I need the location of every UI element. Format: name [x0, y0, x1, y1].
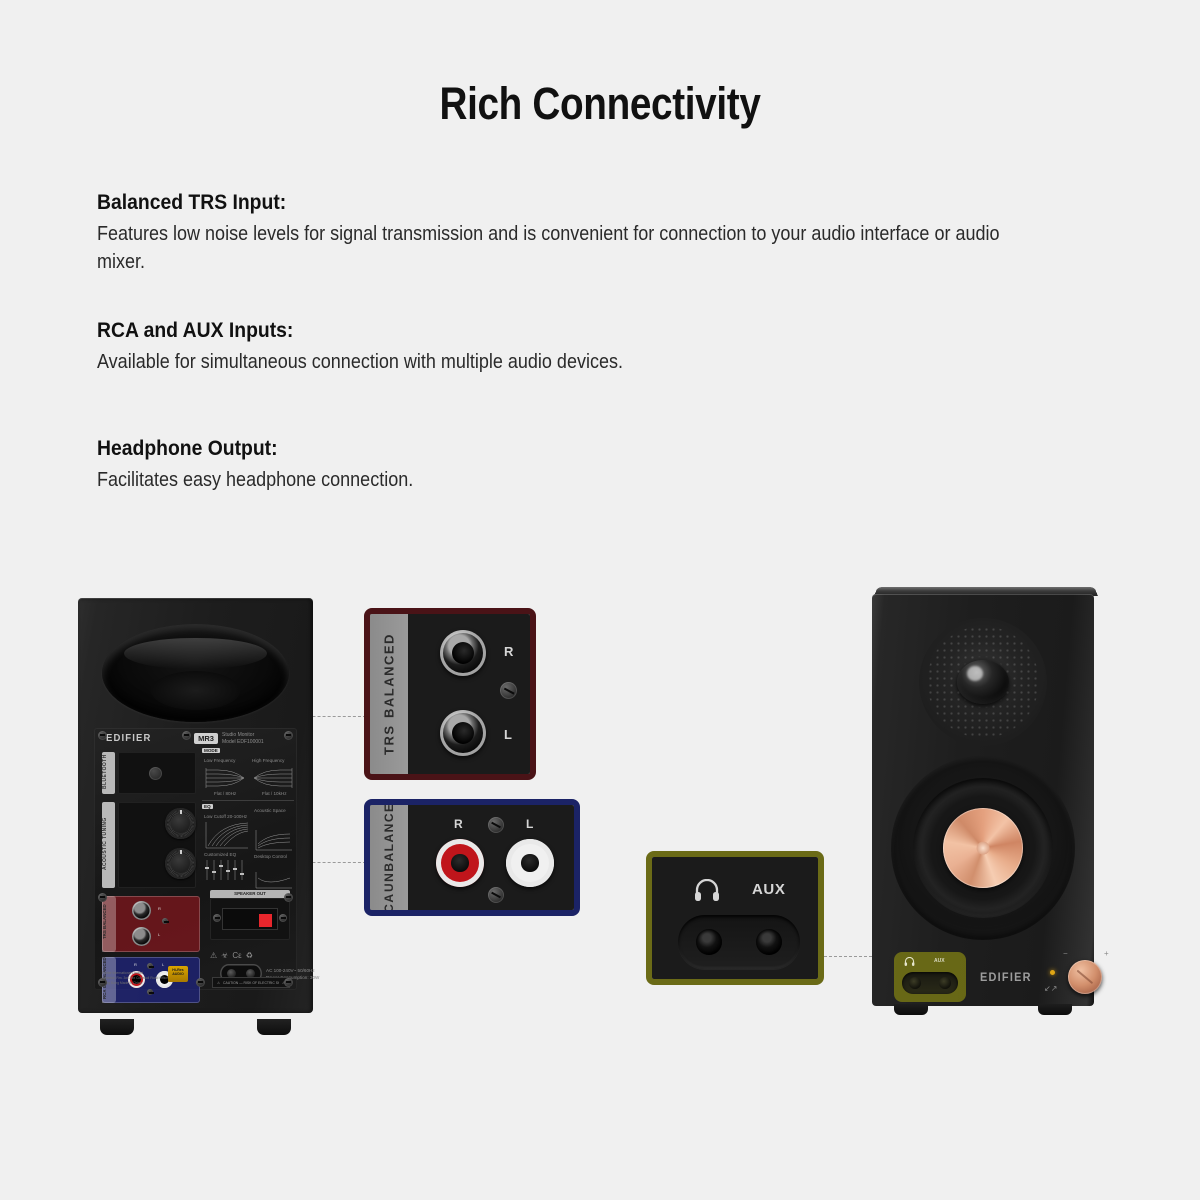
diagram-label-flat-80: Flat / 80Hz — [214, 791, 236, 796]
rca-strip-line-2: UNBALANCED — [382, 799, 396, 892]
rating-line-1: AC 100-240V~ 50/60Hz — [266, 968, 319, 975]
panel-screw-icon — [213, 914, 221, 922]
aux-input-jack[interactable] — [756, 929, 782, 955]
woofer-driver — [891, 756, 1075, 940]
speaker-out-label: SPEAKER OUT — [210, 890, 290, 898]
low-frequency-curve-icon — [204, 766, 246, 790]
aux-label: AUX — [934, 958, 945, 964]
rca-jack-left-label: L — [162, 962, 164, 967]
brand-logo: EDIFIER — [106, 733, 151, 744]
acoustic-tuning-module[interactable] — [118, 802, 196, 888]
trs-input-region-highlight[interactable]: TRS BALANCED R L — [102, 896, 200, 952]
diagram-label-low-cutoff: Low Cutoff 20-100Hz — [204, 814, 247, 819]
callout-aux-headphone: AUX — [646, 851, 824, 985]
speaker-foot — [257, 1019, 291, 1035]
aux-input-region-highlight[interactable]: AUX — [894, 952, 966, 1002]
plate-screw-icon — [182, 731, 191, 740]
panel-screw-icon — [488, 887, 504, 903]
bluetooth-pair-button[interactable] — [149, 767, 162, 780]
speaker-foot — [100, 1019, 134, 1035]
tuning-knob-low[interactable] — [165, 808, 196, 839]
bluetooth-icon: ↙↗ — [1044, 984, 1057, 993]
headphone-icon — [694, 879, 720, 901]
trs-jack-left-label: L — [158, 932, 160, 937]
feature-body: Features low noise levels for signal tra… — [97, 220, 1051, 277]
trs-jack-right[interactable] — [132, 901, 151, 920]
aux-jack-recess — [902, 972, 958, 994]
plate-screw-icon — [98, 731, 107, 740]
trs-jack-right[interactable] — [440, 630, 486, 676]
speaker-out-terminal[interactable]: SPEAKER OUT — [210, 898, 290, 940]
woofer-cone — [949, 814, 1017, 882]
woofer-surround — [913, 778, 1053, 918]
panel-screw-icon — [500, 682, 517, 699]
feature-heading: Balanced TRS Input: — [97, 190, 961, 215]
speaker-out-red-button[interactable] — [259, 914, 272, 927]
speaker-feet — [872, 1004, 1094, 1018]
model-badge: MR3 — [194, 733, 218, 744]
diagram-label-acoustic-space: Acoustic Space — [254, 808, 286, 813]
headphone-jack[interactable] — [909, 977, 921, 989]
feature-block-trs: Balanced TRS Input: Features low noise l… — [97, 190, 1057, 277]
callout-trs-balanced: TRS BALANCED R L — [364, 608, 536, 780]
panel-screw-icon — [162, 918, 168, 924]
diagram-label-low-freq: Low Frequency — [204, 758, 235, 763]
feature-heading: Headphone Output: — [97, 436, 961, 461]
trs-jack-right-label: R — [158, 906, 161, 911]
rca-callout-strip-label: RCA UNBALANCED — [370, 805, 408, 910]
trs-jack-left[interactable] — [132, 927, 151, 946]
warning-text: CAUTION — RISK OF ELECTRIC SHOCK. DO NOT… — [223, 981, 279, 985]
rca-jack-left[interactable] — [506, 839, 554, 887]
speaker-out-socket[interactable] — [222, 908, 278, 930]
volume-plus-label: + — [1104, 949, 1109, 958]
left-speaker-rear: EDIFIER MR3 Studio Monitor Model EDF1000… — [78, 598, 313, 1035]
tweeter-waveguide — [919, 618, 1047, 746]
status-led-indicator — [1050, 970, 1055, 975]
speaker-foot — [1038, 1004, 1072, 1015]
high-frequency-curve-icon — [252, 766, 294, 790]
diagram-label-desktop-control: Desktop Control — [254, 854, 287, 859]
model-text: Studio Monitor Model EDF100001 — [222, 732, 292, 746]
plate-screw-icon — [284, 978, 293, 987]
power-warning-icon: ⚠ — [210, 952, 217, 960]
diagram-tag-mode: MODE — [202, 748, 220, 753]
speaker-foot — [894, 1004, 928, 1015]
feature-body: Facilitates easy headphone connection. — [97, 466, 1051, 494]
tweeter-dome — [957, 660, 1009, 704]
trs-jack-right-label: R — [504, 644, 513, 659]
tuning-knob-high[interactable] — [165, 848, 196, 879]
bluetooth-strip-label: BLUETOOTH — [102, 752, 115, 794]
volume-knob[interactable] — [1068, 960, 1102, 994]
panel-screw-icon — [279, 914, 287, 922]
trs-jack-left-label: L — [504, 727, 512, 742]
plate-screw-icon — [98, 893, 107, 902]
rca-jack-left-label: L — [526, 817, 533, 831]
trs-strip-line-2: BALANCED — [382, 633, 397, 718]
recycle-icon: ♻ — [246, 952, 253, 960]
diagram-label-high-freq: High Frequency — [252, 758, 284, 763]
aux-jack-recess — [678, 915, 800, 969]
headphone-jack[interactable] — [696, 929, 722, 955]
aux-label: AUX — [752, 881, 785, 898]
model-line-1: Studio Monitor — [222, 732, 292, 739]
rca-jack-right-label: R — [454, 817, 463, 831]
volume-minus-label: − — [1063, 949, 1068, 958]
rca-strip-line-1: RCA — [382, 892, 396, 916]
feature-block-rca-aux: RCA and AUX Inputs: Available for simult… — [97, 318, 1057, 376]
warning-triangle-icon: ⚠ — [217, 981, 220, 985]
woofer-dust-cap — [943, 808, 1023, 888]
panel-screw-icon — [147, 989, 153, 995]
feature-heading: RCA and AUX Inputs: — [97, 318, 961, 343]
certification-icons: ⚠ ☣ Cε ♻ — [210, 950, 294, 962]
trs-jack-left[interactable] — [440, 710, 486, 756]
ce-icon: Cε — [232, 952, 241, 960]
page-title: Rich Connectivity — [84, 78, 1116, 130]
feature-body: Available for simultaneous connection wi… — [97, 348, 1051, 376]
aux-input-jack[interactable] — [939, 977, 951, 989]
headphone-icon — [904, 957, 915, 966]
model-line-2: Model EDF100001 — [222, 739, 292, 746]
diagram-divider — [202, 800, 294, 801]
customized-eq-sliders-icon — [204, 858, 250, 884]
tuning-diagrams: MODE Low Frequency High Frequency — [202, 748, 294, 896]
trs-region-label: TRS BALANCED — [102, 896, 116, 952]
product-feature-slide: Rich Connectivity Balanced TRS Input: Fe… — [0, 0, 1200, 1200]
plate-screw-icon — [284, 731, 293, 740]
rca-jack-right[interactable] — [436, 839, 484, 887]
plate-screw-icon — [196, 978, 205, 987]
weee-icon: ☣ — [221, 952, 228, 960]
trs-callout-strip-label: TRS BALANCED — [370, 614, 408, 774]
plate-screw-icon — [284, 893, 293, 902]
low-cutoff-curve-icon — [204, 820, 250, 850]
warning-bar: ⚠ CAUTION — RISK OF ELECTRIC SHOCK. DO N… — [212, 977, 290, 988]
trs-strip-line-1: TRS — [382, 724, 397, 755]
brand-logo: EDIFIER — [980, 972, 1032, 984]
acoustic-tuning-strip-label: ACOUSTIC TUNING — [102, 802, 115, 888]
callout-rca-unbalanced: RCA UNBALANCED R L — [364, 799, 580, 916]
diagram-label-flat-10k: Flat / 10kHz — [262, 791, 287, 796]
rear-connection-plate: EDIFIER MR3 Studio Monitor Model EDF1000… — [94, 728, 297, 990]
bass-reflex-port — [102, 624, 289, 722]
panel-screw-icon — [488, 817, 504, 833]
speaker-feet — [78, 1013, 313, 1035]
desktop-control-curve-icon — [254, 870, 294, 890]
right-speaker-front: AUX EDIFIER ↙↗ − + — [866, 584, 1104, 1032]
diagram-tag-eq: EQ — [202, 804, 213, 809]
rca-jack-right-label: R — [134, 962, 137, 967]
speaker-cabinet: AUX EDIFIER ↙↗ − + — [872, 594, 1094, 1006]
panel-screw-icon — [147, 963, 153, 969]
feature-block-headphone: Headphone Output: Facilitates easy headp… — [97, 436, 1057, 494]
plate-screw-icon — [98, 978, 107, 987]
bluetooth-module[interactable] — [118, 752, 196, 794]
diagram-label-customized-eq: Customized EQ — [204, 852, 236, 857]
acoustic-space-curve-icon — [254, 828, 294, 852]
